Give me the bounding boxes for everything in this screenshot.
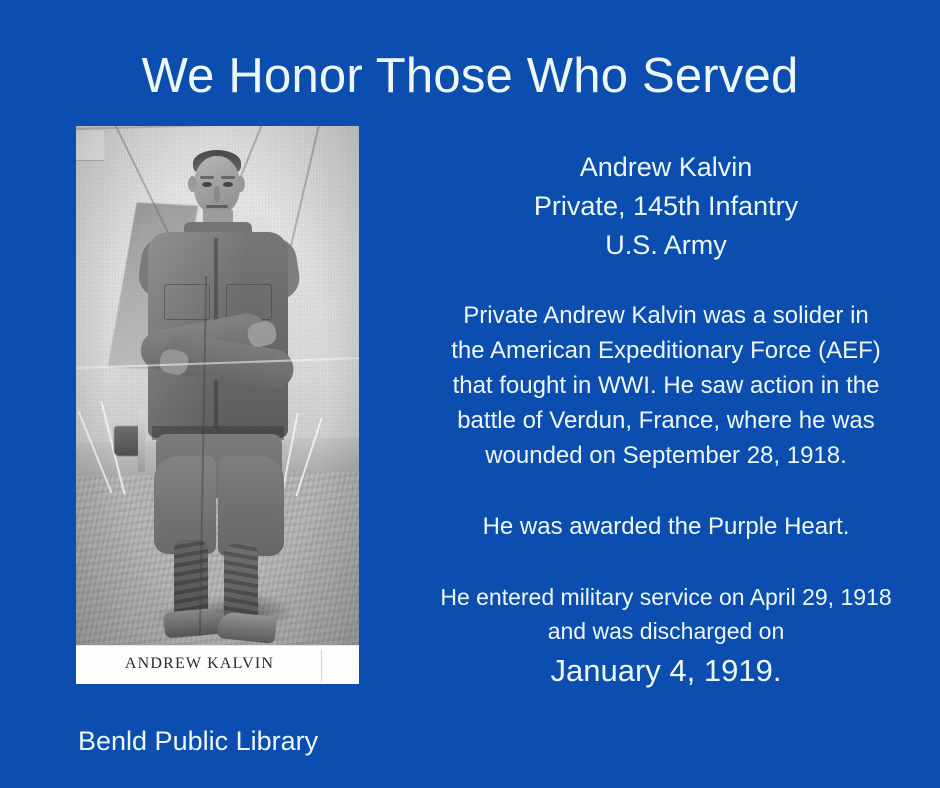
service-dates: He entered military service on April 29,…	[392, 580, 940, 691]
soldier-brow-right	[221, 176, 235, 179]
soldier-nose	[214, 186, 220, 202]
photo-image	[76, 126, 359, 645]
biography-line: Private Andrew Kalvin was a solider in	[392, 298, 940, 333]
service-entry-line: He entered military service on April 29,…	[392, 580, 940, 614]
page-title: We Honor Those Who Served	[0, 48, 940, 104]
biography-line: that fought in WWI. He saw action in the	[392, 368, 940, 403]
soldier-mouth	[206, 205, 228, 208]
biography-line: the American Expeditionary Force (AEF)	[392, 333, 940, 368]
photo-caption-text: ANDREW KALVIN	[76, 655, 323, 673]
soldier-ear-left	[188, 176, 197, 192]
memorial-poster: We Honor Those Who Served	[0, 0, 940, 788]
service-discharge-date: January 4, 1919.	[392, 651, 940, 691]
soldier-eye-right	[223, 182, 233, 187]
memorial-text-column: Andrew Kalvin Private, 145th Infantry U.…	[392, 148, 940, 691]
soldier-brow-left	[200, 176, 214, 179]
soldier-photo: ANDREW KALVIN	[76, 126, 359, 684]
soldier-rank-unit: Private, 145th Infantry	[392, 187, 940, 226]
soldier-ear-right	[236, 176, 245, 192]
photo-caption-strip: ANDREW KALVIN	[76, 645, 359, 684]
soldier-identification: Andrew Kalvin Private, 145th Infantry U.…	[392, 148, 940, 265]
boot-right	[217, 611, 278, 644]
library-credit: Benld Public Library	[78, 726, 318, 757]
service-discharge-label: and was discharged on	[392, 614, 940, 648]
uniform-pocket-left	[164, 284, 210, 320]
biography-paragraph: Private Andrew Kalvin was a solider in t…	[392, 298, 940, 473]
soldier-branch: U.S. Army	[392, 226, 940, 265]
biography-line: battle of Verdun, France, where he was	[392, 403, 940, 438]
caption-divider	[321, 650, 322, 682]
boot-left	[163, 608, 223, 639]
award-statement: He was awarded the Purple Heart.	[392, 509, 940, 544]
soldier-eye-left	[202, 182, 212, 187]
soldier-name: Andrew Kalvin	[392, 148, 940, 187]
breeches-right	[218, 456, 284, 556]
biography-line: wounded on September 28, 1918.	[392, 438, 940, 473]
soldier-figure	[76, 126, 359, 645]
